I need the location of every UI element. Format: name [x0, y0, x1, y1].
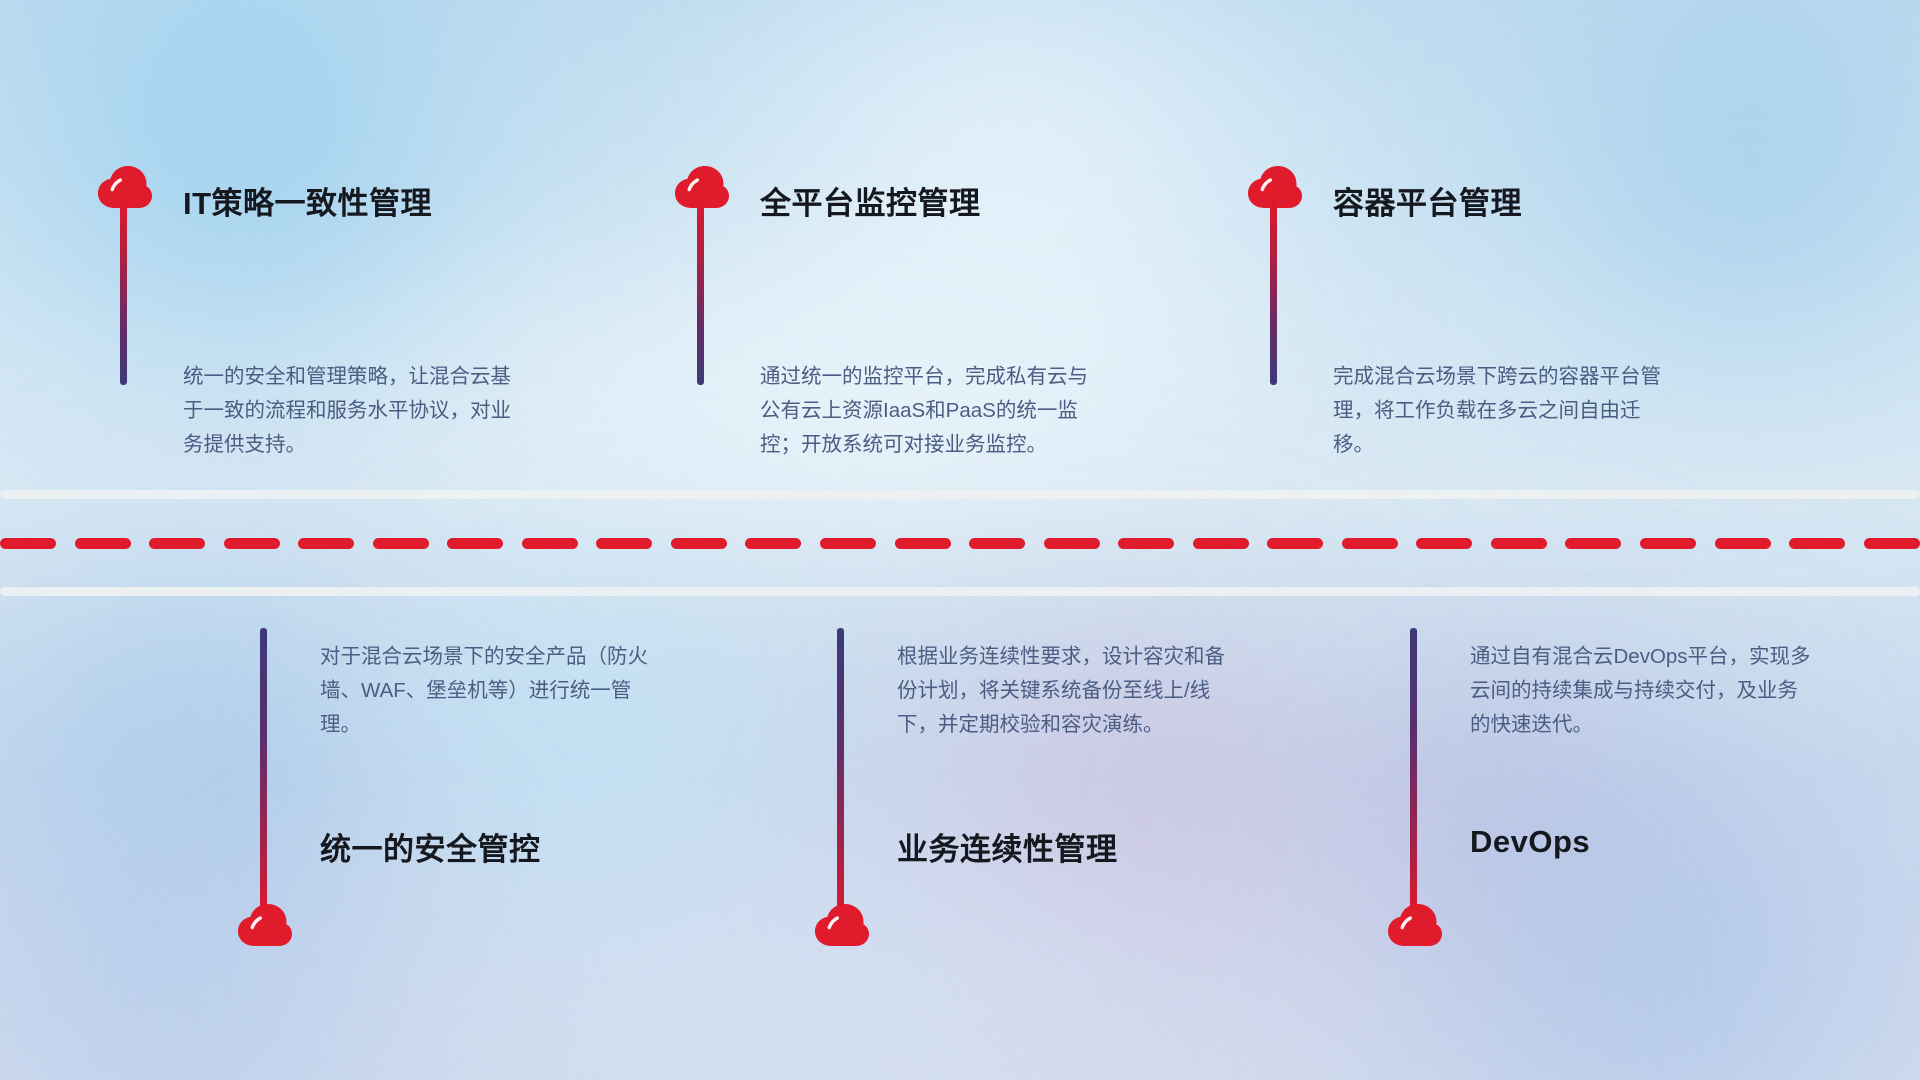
top-body-3: 完成混合云场景下跨云的容器平台管理，将工作负载在多云之间自由迁移。	[1333, 360, 1678, 462]
road-dash	[820, 538, 876, 549]
road-dash	[522, 538, 578, 549]
road-dash	[1044, 538, 1100, 549]
road-dash	[1491, 538, 1547, 549]
road-dash	[1416, 538, 1472, 549]
connector-line	[837, 628, 844, 918]
cloud-icon	[237, 903, 293, 947]
infographic-canvas: IT策略一致性管理 统一的安全和管理策略，让混合云基于一致的流程和服务水平协议，…	[0, 0, 1920, 1080]
road-dash	[224, 538, 280, 549]
road-dash	[1267, 538, 1323, 549]
road-dash	[1342, 538, 1398, 549]
road-center-dashes	[0, 538, 1920, 549]
connector-line	[260, 628, 267, 918]
connector-line	[120, 200, 127, 385]
bottom-heading-1: 统一的安全管控	[320, 824, 541, 869]
cloud-icon	[814, 903, 870, 947]
road-dash	[671, 538, 727, 549]
road-dash	[1864, 538, 1920, 549]
road-dash	[447, 538, 503, 549]
road-dash	[149, 538, 205, 549]
road-dash	[0, 538, 56, 549]
cloud-icon	[1387, 903, 1443, 947]
road-dash	[298, 538, 354, 549]
bottom-heading-2: 业务连续性管理	[897, 824, 1118, 869]
road-dash	[745, 538, 801, 549]
road-dash	[1193, 538, 1249, 549]
top-body-2: 通过统一的监控平台，完成私有云与公有云上资源IaaS和PaaS的统一监控；开放系…	[760, 360, 1105, 462]
bottom-body-2: 根据业务连续性要求，设计容灾和备份计划，将关键系统备份至线上/线下，并定期校验和…	[897, 640, 1242, 742]
road-dash	[596, 538, 652, 549]
road-dash	[895, 538, 951, 549]
road-dash	[75, 538, 131, 549]
top-body-1: 统一的安全和管理策略，让混合云基于一致的流程和服务水平协议，对业务提供支持。	[183, 360, 528, 462]
road-edge-top	[0, 490, 1920, 499]
bottom-body-3: 通过自有混合云DevOps平台，实现多云间的持续集成与持续交付，及业务的快速迭代…	[1470, 640, 1815, 742]
top-heading-3: 容器平台管理	[1333, 178, 1522, 223]
bottom-heading-3: DevOps	[1470, 824, 1590, 860]
road-dash	[1715, 538, 1771, 549]
road-dash	[1789, 538, 1845, 549]
road-dash	[969, 538, 1025, 549]
connector-line	[697, 200, 704, 385]
road-dash	[1118, 538, 1174, 549]
connector-line	[1410, 628, 1417, 918]
top-heading-1: IT策略一致性管理	[183, 178, 432, 223]
road-edge-bottom	[0, 587, 1920, 596]
connector-line	[1270, 200, 1277, 385]
road-dash	[373, 538, 429, 549]
bottom-body-1: 对于混合云场景下的安全产品（防火墙、WAF、堡垒机等）进行统一管理。	[320, 640, 665, 742]
road-dash	[1565, 538, 1621, 549]
top-heading-2: 全平台监控管理	[760, 178, 981, 223]
road-dash	[1640, 538, 1696, 549]
